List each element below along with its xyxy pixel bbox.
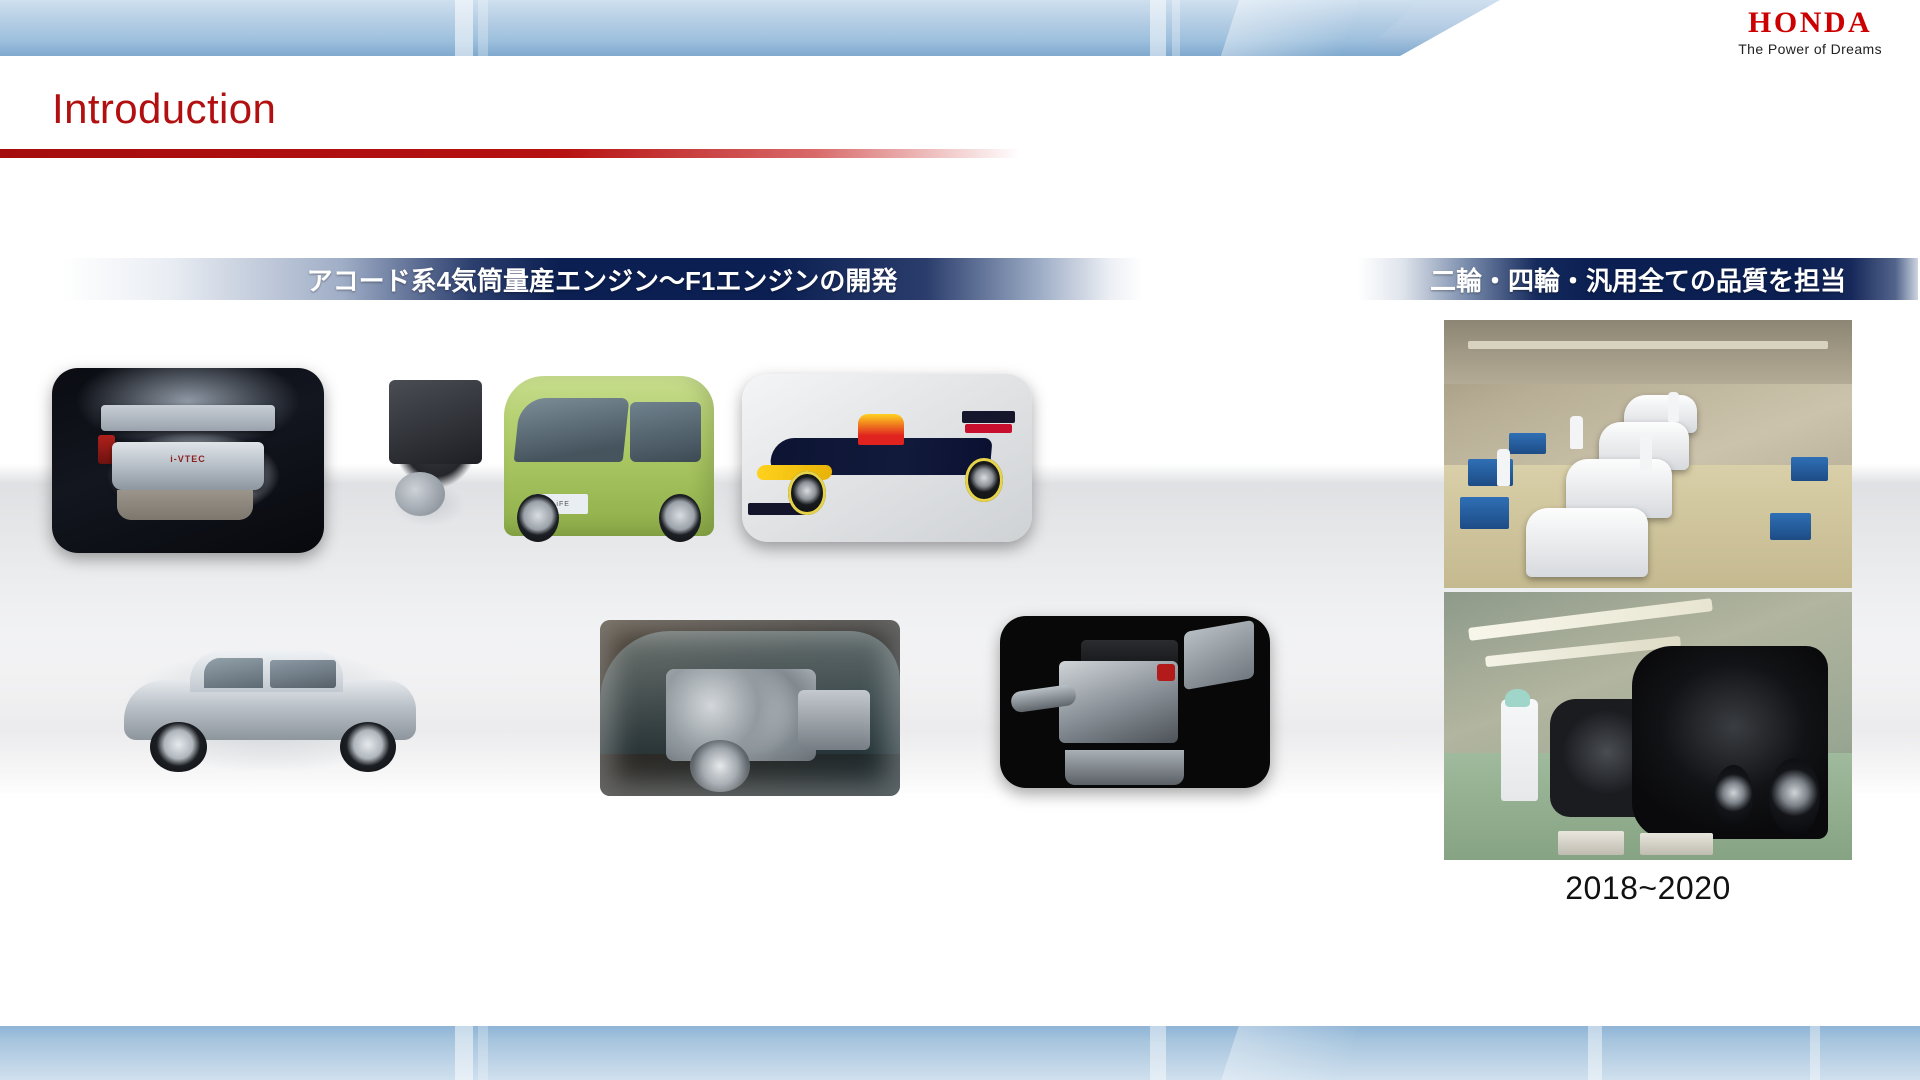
- honda-tagline: The Power of Dreams: [1738, 42, 1882, 56]
- section-banner-right-text: 二輪・四輪・汎用全ての品質を担当: [1430, 261, 1846, 298]
- header-stripe-5: [1221, 0, 1359, 56]
- assembly-worker: [1497, 449, 1510, 487]
- photo-f1-car: [742, 374, 1032, 542]
- honda-logo: HONDA The Power of Dreams: [1738, 8, 1882, 56]
- page-title: Introduction: [52, 88, 276, 130]
- pu-sump: [1065, 750, 1184, 784]
- motorcycle-foreground: [1632, 646, 1828, 839]
- photo-car-assembly-line: [1444, 320, 1852, 588]
- photo-engine-cutaway: [600, 620, 900, 796]
- life-rear-wheel: [659, 494, 701, 542]
- f1-front-tyre: [788, 471, 826, 515]
- motorcycle-rear-wheel: [1714, 765, 1753, 827]
- accord-windshield: [204, 658, 264, 688]
- life-side-window: [630, 402, 701, 463]
- engine-top-cover: [101, 405, 275, 431]
- photo-motorcycle-assembly-line: [1444, 592, 1852, 860]
- header-stripe-2: [478, 0, 488, 56]
- footer-stripe-5: [1810, 1026, 1820, 1080]
- life-kei-car: [504, 376, 714, 536]
- life-front-wheel: [517, 494, 559, 542]
- header-stripe-1: [455, 0, 473, 56]
- footer-band-base: [0, 1026, 1920, 1080]
- section-banner-left-text: アコード系4気筒量産エンジン～F1エンジンの開発: [307, 261, 898, 298]
- cutaway-transmission: [798, 690, 870, 750]
- accord-side-window: [270, 660, 336, 688]
- parts-rack: [1460, 497, 1509, 529]
- assembly-pallet: [1640, 833, 1713, 854]
- cutaway-body-ghost: [600, 631, 900, 754]
- section-banner-left: アコード系4気筒量産エンジン～F1エンジンの開発: [62, 258, 1142, 300]
- header-decoration-band: [0, 0, 1920, 56]
- footer-stripe-3: [1150, 1026, 1166, 1080]
- header-stripe-3: [1150, 0, 1166, 56]
- factory-ceiling: [1444, 320, 1852, 384]
- slide-root: HONDA The Power of Dreams Introduction ア…: [0, 0, 1920, 1080]
- engine-intake-manifold: [117, 490, 253, 520]
- title-underline-rule: [0, 149, 1020, 158]
- kei-engine-block: [389, 380, 482, 464]
- photo-kei-engine-life: [352, 348, 714, 548]
- assembly-worker: [1570, 416, 1582, 448]
- f1-rear-wing-flap: [965, 424, 1011, 432]
- assembly-pallet: [1558, 831, 1623, 855]
- engine-valve-cover: [112, 442, 264, 490]
- parts-rack: [1770, 513, 1811, 540]
- parts-rack: [1791, 457, 1828, 481]
- footer-stripe-2: [478, 1026, 488, 1080]
- cutaway-gear: [690, 740, 750, 793]
- kei-engine: [352, 348, 519, 548]
- photo-engine-bay: [52, 368, 324, 553]
- assembly-worker: [1501, 699, 1538, 801]
- assembly-worker: [1640, 435, 1652, 470]
- kei-engine-alternator: [395, 472, 445, 516]
- pu-plenum: [1184, 620, 1254, 691]
- car-body-on-line: [1526, 508, 1648, 578]
- section-banner-right: 二輪・四輪・汎用全ての品質を担当: [1358, 258, 1918, 300]
- factory-overhead-beam: [1468, 341, 1827, 349]
- f1-rear-tyre: [965, 458, 1003, 502]
- accord-rear-wheel: [340, 722, 396, 772]
- period-caption: 2018~2020: [1444, 870, 1852, 907]
- worker-cap: [1505, 689, 1529, 708]
- assembly-worker: [1668, 392, 1679, 421]
- footer-stripe-4: [1588, 1026, 1602, 1080]
- f1-rear-wing: [962, 411, 1014, 423]
- cutaway-engine-internals: [666, 669, 816, 761]
- photo-accord-sedan: [104, 636, 436, 784]
- accord-front-wheel: [150, 722, 206, 772]
- footer-decoration-band: [0, 1026, 1920, 1080]
- motorcycle-front-wheel: [1769, 758, 1820, 835]
- parts-rack: [1509, 433, 1546, 454]
- f1-airbox: [858, 414, 904, 444]
- life-windshield: [513, 398, 629, 462]
- pu-red-component: [1157, 664, 1176, 681]
- header-stripe-4: [1172, 0, 1180, 56]
- footer-stripe-6: [1221, 1026, 1359, 1080]
- photo-f1-power-unit: [1000, 616, 1270, 788]
- honda-wordmark: HONDA: [1738, 8, 1882, 38]
- footer-stripe-1: [455, 1026, 473, 1080]
